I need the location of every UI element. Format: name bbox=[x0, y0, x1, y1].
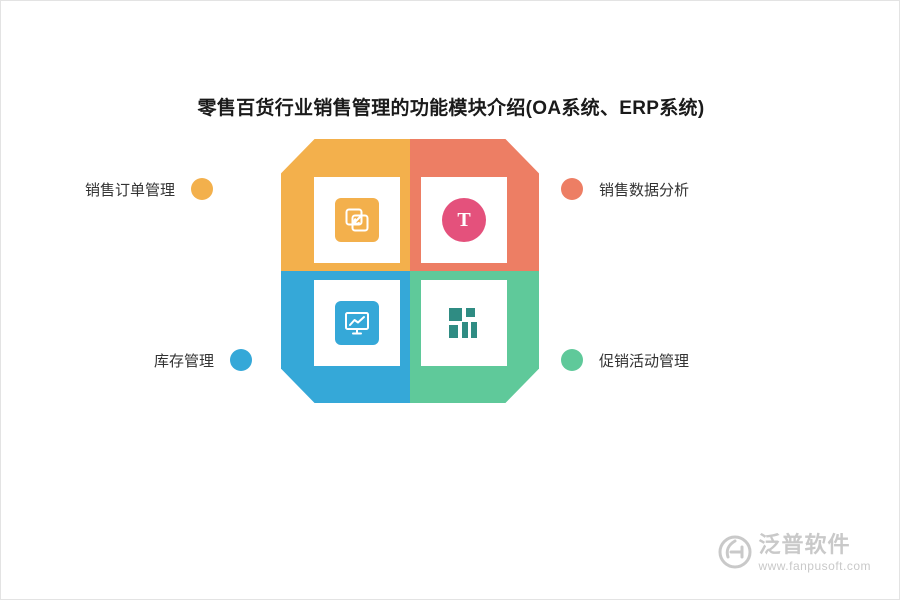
text-t-icon: T bbox=[442, 198, 486, 242]
page-canvas: 零售百货行业销售管理的功能模块介绍(OA系统、ERP系统) 销售订单管理 销售数… bbox=[0, 0, 900, 600]
link-icon bbox=[335, 198, 379, 242]
label-sales-order-management: 销售订单管理 bbox=[85, 178, 213, 200]
fanpu-logo-icon bbox=[718, 535, 752, 569]
letter-t: T bbox=[457, 210, 470, 230]
label-sales-data-analysis: 销售数据分析 bbox=[561, 178, 689, 200]
page-title: 零售百货行业销售管理的功能模块介绍(OA系统、ERP系统) bbox=[1, 93, 900, 120]
card-sales-order-management bbox=[314, 177, 400, 263]
label-inventory-management: 库存管理 bbox=[154, 349, 252, 371]
brand-text-wrap: 泛普软件 www.fanpusoft.com bbox=[758, 533, 871, 573]
card-inventory-management bbox=[314, 280, 400, 366]
diagram-container: T bbox=[281, 139, 539, 403]
presentation-chart-icon bbox=[335, 301, 379, 345]
brand-logo: 泛普软件 www.fanpusoft.com bbox=[718, 533, 871, 573]
label-text: 促销活动管理 bbox=[599, 350, 689, 371]
bullet-dot-icon bbox=[561, 178, 583, 200]
card-sales-data-analysis: T bbox=[421, 177, 507, 263]
label-text: 销售订单管理 bbox=[85, 179, 175, 200]
grid-blocks-icon bbox=[442, 301, 486, 345]
brand-name: 泛普软件 bbox=[758, 533, 850, 557]
bullet-dot-icon bbox=[230, 349, 252, 371]
label-promotion-management: 促销活动管理 bbox=[561, 349, 689, 371]
bullet-dot-icon bbox=[561, 349, 583, 371]
label-text: 销售数据分析 bbox=[599, 179, 689, 200]
card-promotion-management bbox=[421, 280, 507, 366]
label-text: 库存管理 bbox=[154, 350, 214, 371]
bullet-dot-icon bbox=[191, 178, 213, 200]
brand-url: www.fanpusoft.com bbox=[758, 559, 871, 573]
